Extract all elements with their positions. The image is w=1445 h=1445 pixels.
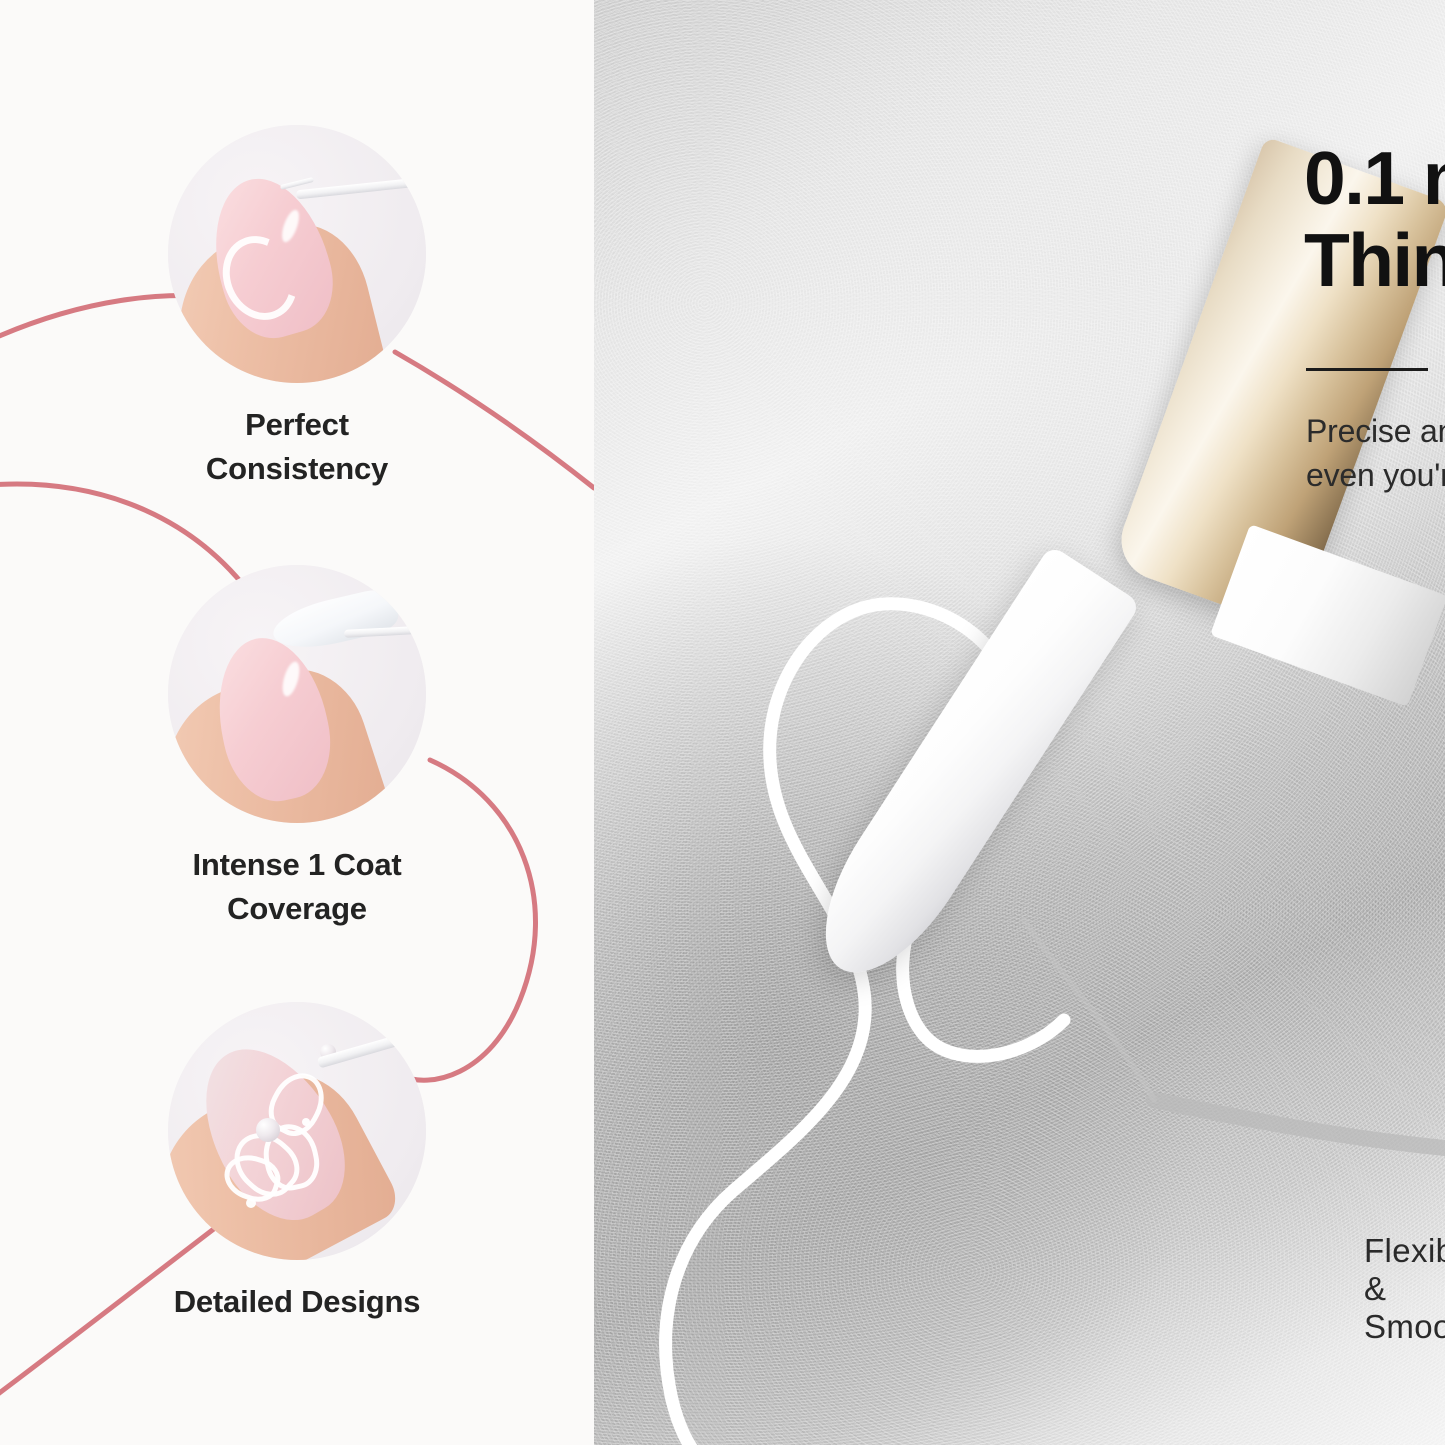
subtitle-line2: even you're a beginner. xyxy=(1306,454,1445,498)
page-title: 0.1 mm Super Thin Brush xyxy=(1304,138,1445,302)
subtitle-line1: Precise and accurate control, xyxy=(1306,410,1445,454)
feature-intense-coverage: Intense 1 Coat Coverage xyxy=(0,565,594,931)
feature-label-perfect-consistency: Perfect Consistency xyxy=(0,403,594,491)
feature-perfect-consistency: Perfect Consistency xyxy=(0,125,594,491)
feature-label-detailed-designs: Detailed Designs xyxy=(0,1280,594,1324)
headline-line2: Thin Brush xyxy=(1304,220,1445,302)
right-product-panel: 0.1 mm Super Thin Brush Precise and accu… xyxy=(594,0,1445,1445)
title-divider-rule xyxy=(1306,368,1428,371)
feature-label-line2: Consistency xyxy=(0,447,594,491)
feature-label-line1: Intense 1 Coat xyxy=(0,843,594,887)
product-feature-graphic: Perfect Consistency Intense 1 Coat Cover… xyxy=(0,0,1445,1445)
feature-detailed-designs: Detailed Designs xyxy=(0,1002,594,1324)
feature-image-intense-coverage xyxy=(168,565,426,823)
headline-line1: 0.1 mm Super xyxy=(1304,138,1445,220)
flexible-smooth-caption: Flexible & Smooth xyxy=(1364,1232,1445,1346)
feature-label-line1: Perfect xyxy=(0,403,594,447)
feature-label-line1: Detailed Designs xyxy=(0,1280,594,1324)
feature-image-detailed-designs xyxy=(168,1002,426,1260)
feature-label-line2: Coverage xyxy=(0,887,594,931)
subtitle: Precise and accurate control, even you'r… xyxy=(1306,410,1445,497)
feature-label-intense-coverage: Intense 1 Coat Coverage xyxy=(0,843,594,931)
left-features-panel: Perfect Consistency Intense 1 Coat Cover… xyxy=(0,0,594,1445)
feature-image-perfect-consistency xyxy=(168,125,426,383)
